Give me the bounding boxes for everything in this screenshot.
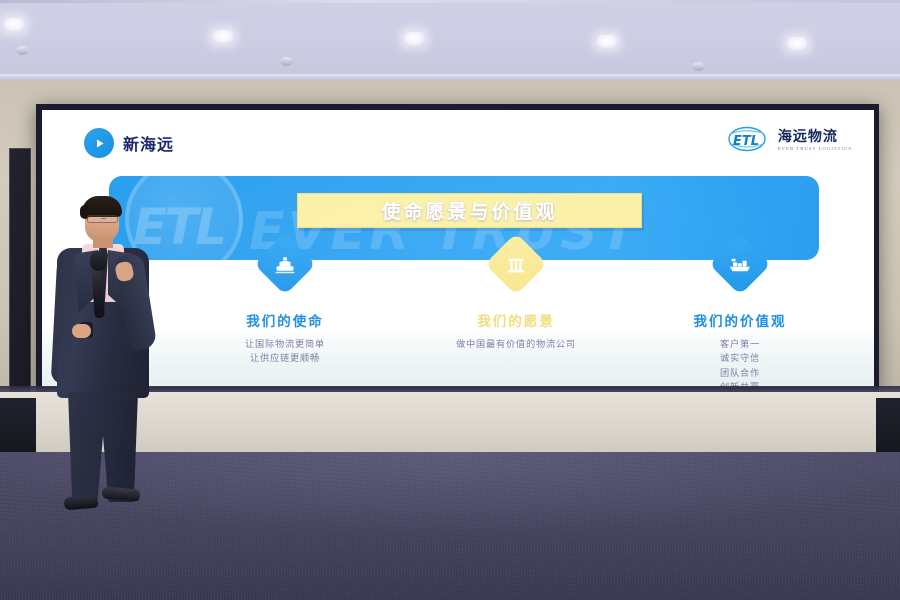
vision-icon-wrap — [391, 256, 641, 304]
ceiling-downlight — [404, 32, 424, 45]
vision-line: 做中国最有价值的物流公司 — [391, 337, 641, 351]
presentation-slide: 新海远 ETL 海远物流 EVER TRUST LOGISTICS — [42, 110, 874, 387]
mission-heading: 我们的使命 — [160, 310, 410, 330]
presenter-shoe-right — [102, 486, 141, 501]
values-body: 客户第一 诚实守信 团队合作 创新共赢 — [615, 337, 865, 387]
slide-header: 新海远 ETL 海远物流 EVER TRUST LOGISTICS — [42, 110, 874, 168]
values-line: 诚实守信 — [615, 351, 865, 365]
brand-right-chinese: 海远物流 — [778, 129, 852, 143]
presenter-figure — [30, 196, 162, 518]
conference-room-scene: 新海远 ETL 海远物流 EVER TRUST LOGISTICS — [0, 0, 900, 600]
ceiling-sensor — [16, 46, 29, 55]
ceiling-sensor — [280, 57, 293, 66]
ceiling-seam — [0, 0, 900, 3]
projection-screen-frame: 新海远 ETL 海远物流 EVER TRUST LOGISTICS — [36, 104, 879, 394]
etl-globe-logo: ETL — [727, 126, 771, 153]
mission-icon-wrap — [160, 256, 410, 304]
slide-title-plate: 使命愿景与价值观 — [297, 193, 642, 228]
ceiling-downlight — [597, 35, 617, 48]
column-mission: 我们的使命 让国际物流更简单 让供应链更顺畅 — [160, 256, 410, 366]
ceiling-downlight — [787, 37, 807, 50]
mission-line: 让国际物流更简单 — [160, 337, 410, 351]
play-circle-icon — [84, 128, 114, 158]
slide-title-banner: ETL EVER TRUST 使命愿景与价值观 — [109, 176, 819, 260]
ceiling-downlight — [213, 30, 233, 43]
vision-heading: 我们的愿景 — [391, 310, 641, 330]
presenter-left-hand — [72, 324, 91, 338]
brand-right-english: EVER TRUST LOGISTICS — [778, 146, 852, 151]
presenter-hair — [82, 196, 122, 217]
microphone-capsule — [90, 251, 107, 271]
presenter-shoe-left — [63, 495, 98, 511]
stage-plinth-right — [876, 398, 900, 452]
ceiling-sensor — [692, 62, 705, 71]
slide-brand-left: 新海远 — [84, 128, 174, 158]
slide-brand-right-text: 海远物流 EVER TRUST LOGISTICS — [778, 129, 852, 151]
values-line: 客户第一 — [615, 337, 865, 351]
mission-body: 让国际物流更简单 让供应链更顺畅 — [160, 337, 410, 366]
mission-line: 让供应链更顺畅 — [160, 351, 410, 365]
values-line: 团队合作 — [615, 366, 865, 380]
presenter-glasses — [87, 215, 118, 223]
column-vision: 我们的愿景 做中国最有价值的物流公司 — [391, 256, 641, 351]
values-heading: 我们的价值观 — [615, 310, 865, 330]
vision-body: 做中国最有价值的物流公司 — [391, 337, 641, 351]
ceiling-downlight — [4, 18, 24, 31]
slide-columns: 我们的使命 让国际物流更简单 让供应链更顺畅 — [42, 256, 874, 387]
values-icon-wrap — [615, 256, 865, 304]
presenter-trousers — [68, 392, 138, 502]
svg-text:ETL: ETL — [733, 134, 759, 149]
column-values: 我们的价值观 客户第一 诚实守信 团队合作 创新共赢 — [615, 256, 865, 387]
slide-title: 使命愿景与价值观 — [381, 197, 557, 224]
ceiling — [0, 0, 900, 82]
slide-brand-right: ETL 海远物流 EVER TRUST LOGISTICS — [727, 126, 852, 153]
slide-brand-left-label: 新海远 — [123, 131, 174, 155]
